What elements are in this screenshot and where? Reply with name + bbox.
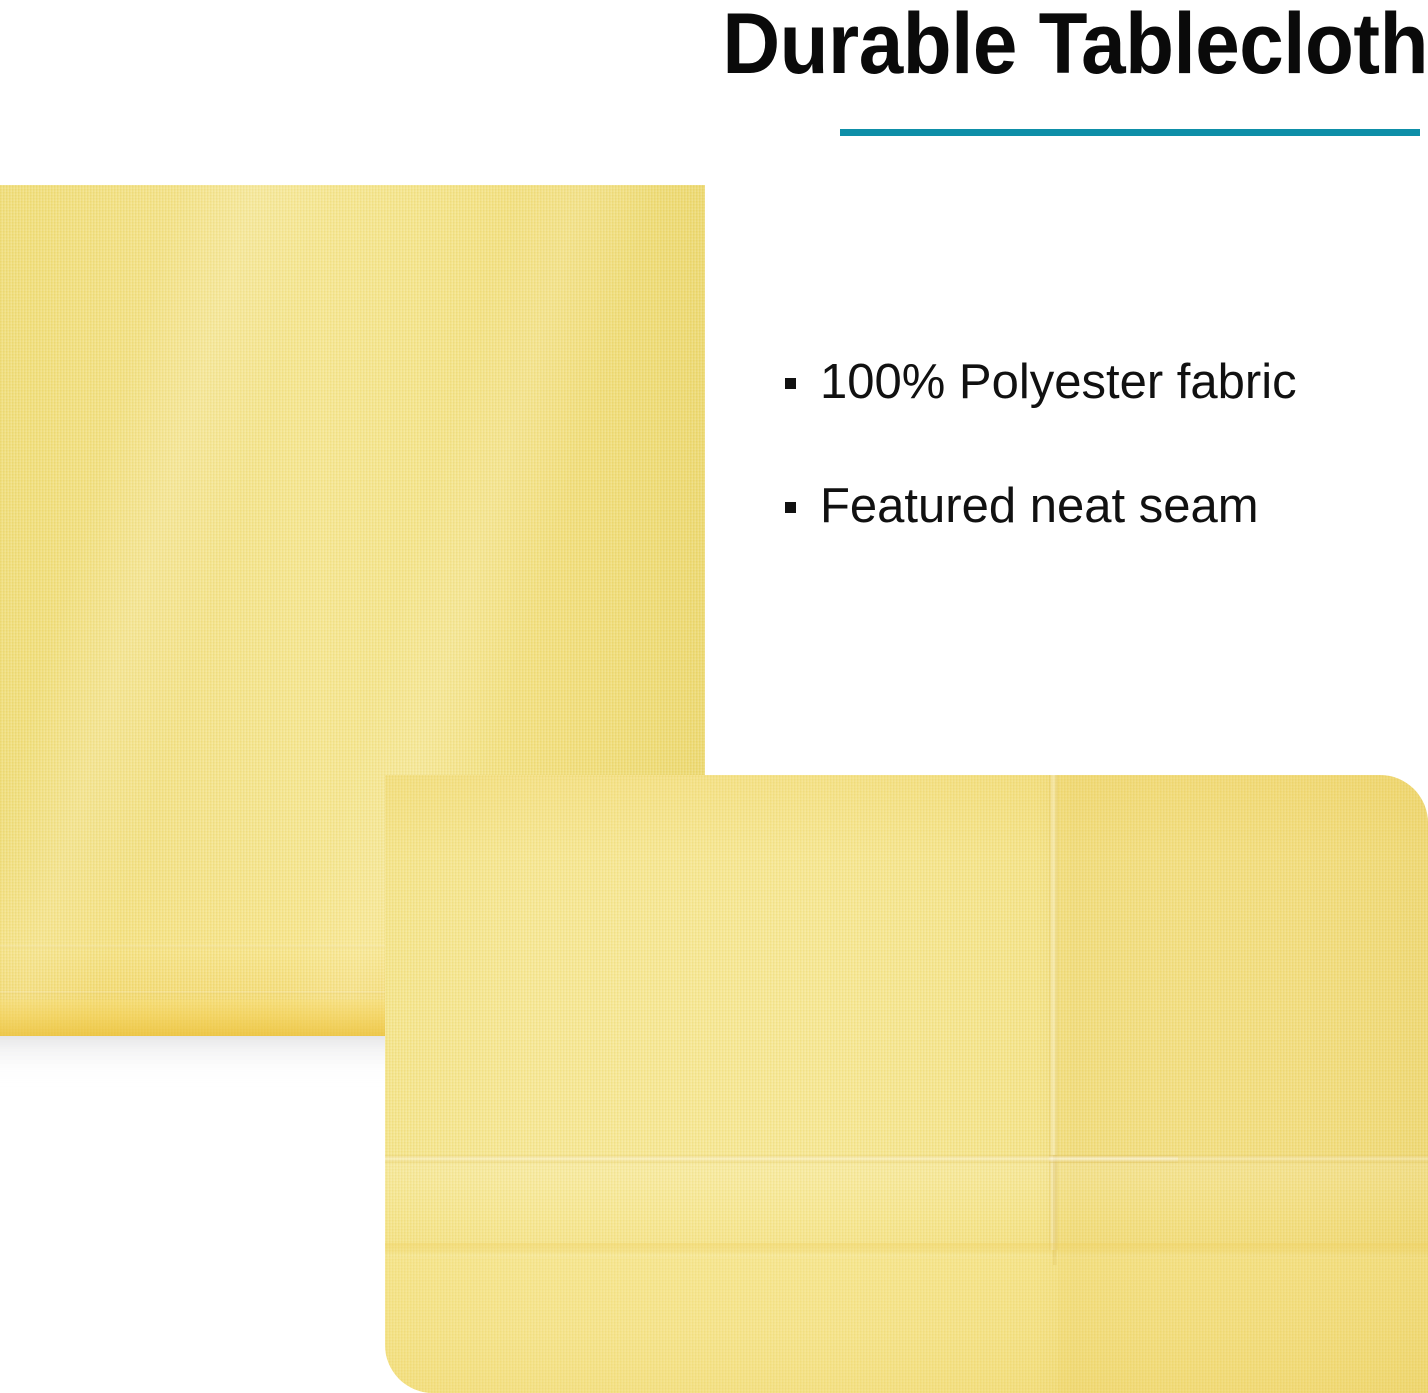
corner-hem-band xyxy=(385,1163,1428,1253)
page-title: Durable Tablecloth xyxy=(716,0,1428,92)
square-bullet-icon xyxy=(785,502,796,513)
feature-label: 100% Polyester fabric xyxy=(820,352,1297,412)
copy-panel: Durable Tablecloth 100% Polyester fabric… xyxy=(655,0,1428,560)
title-underline-rule xyxy=(840,129,1420,136)
square-bullet-icon xyxy=(785,378,796,389)
product-infographic: Durable Tablecloth 100% Polyester fabric… xyxy=(0,0,1428,1393)
corner-bottom-panel xyxy=(385,1257,1428,1393)
list-item: 100% Polyester fabric xyxy=(785,352,1425,412)
feature-label: Featured neat seam xyxy=(820,476,1259,536)
feature-list: 100% Polyester fabric Featured neat seam xyxy=(785,352,1425,600)
horizontal-hem-seam-right xyxy=(1049,1155,1428,1163)
tablecloth-corner-image xyxy=(385,775,1428,1393)
list-item: Featured neat seam xyxy=(785,476,1425,536)
